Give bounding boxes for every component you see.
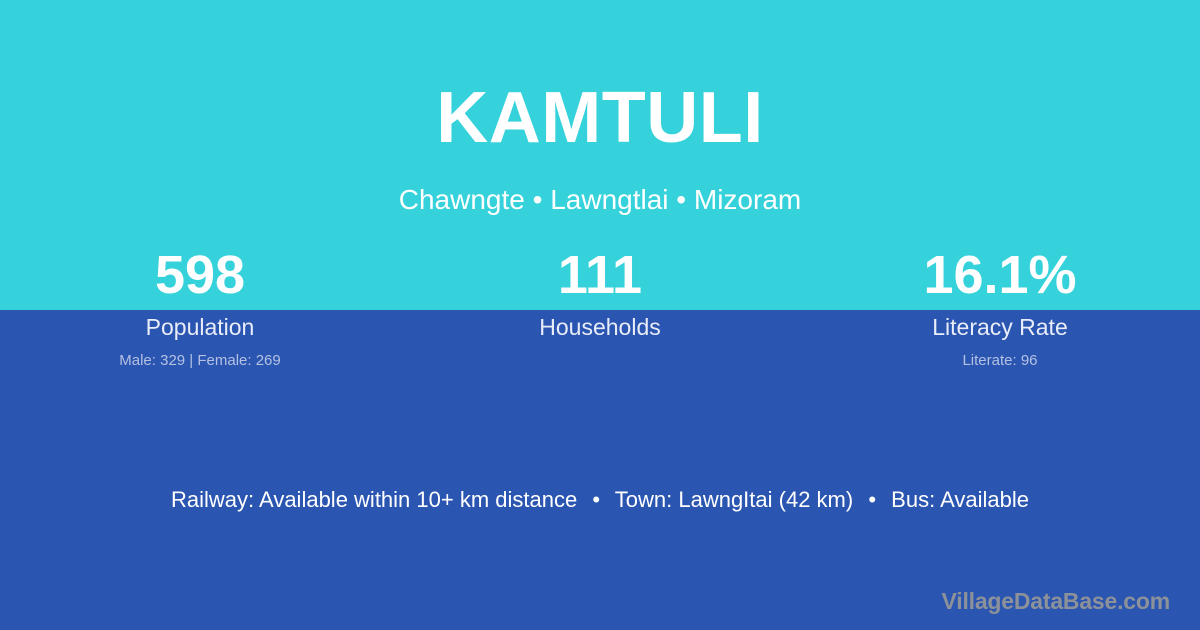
amenity-separator-2: • <box>859 486 885 515</box>
stat-label-literacy-rate: Literacy Rate <box>800 314 1200 342</box>
stat-population: 598 Population Male: 329 | Female: 269 <box>0 240 400 380</box>
amenities-summary: Railway: Available within 10+ km distanc… <box>0 486 1200 515</box>
stat-value-households: 111 <box>400 240 800 310</box>
stat-sub-population: Male: 329 | Female: 269 <box>0 352 400 370</box>
amenity-railway: Railway: Available within 10+ km distanc… <box>171 487 577 512</box>
amenity-town: Town: LawngItai (42 km) <box>615 487 853 512</box>
breadcrumb: Chawngte • Lawngtlai • Mizoram <box>0 183 1200 217</box>
stat-label-population: Population <box>0 314 400 342</box>
card-header: KAMTULI Chawngte • Lawngtlai • Mizoram <box>0 0 1200 230</box>
stat-value-population: 598 <box>0 240 400 310</box>
stat-households: 111 Households <box>400 240 800 380</box>
statistics-row: 598 Population Male: 329 | Female: 269 1… <box>0 240 1200 380</box>
stat-label-households: Households <box>400 314 800 342</box>
page-title: KAMTULI <box>0 82 1200 154</box>
village-info-card: KAMTULI Chawngte • Lawngtlai • Mizoram 5… <box>0 0 1200 630</box>
amenity-separator-1: • <box>583 486 609 515</box>
amenity-bus: Bus: Available <box>891 487 1029 512</box>
stat-value-literacy-rate: 16.1% <box>800 240 1200 310</box>
site-watermark: VillageDataBase.com <box>942 588 1170 616</box>
stat-literacy-rate: 16.1% Literacy Rate Literate: 96 <box>800 240 1200 380</box>
stat-sub-literacy-rate: Literate: 96 <box>800 352 1200 370</box>
